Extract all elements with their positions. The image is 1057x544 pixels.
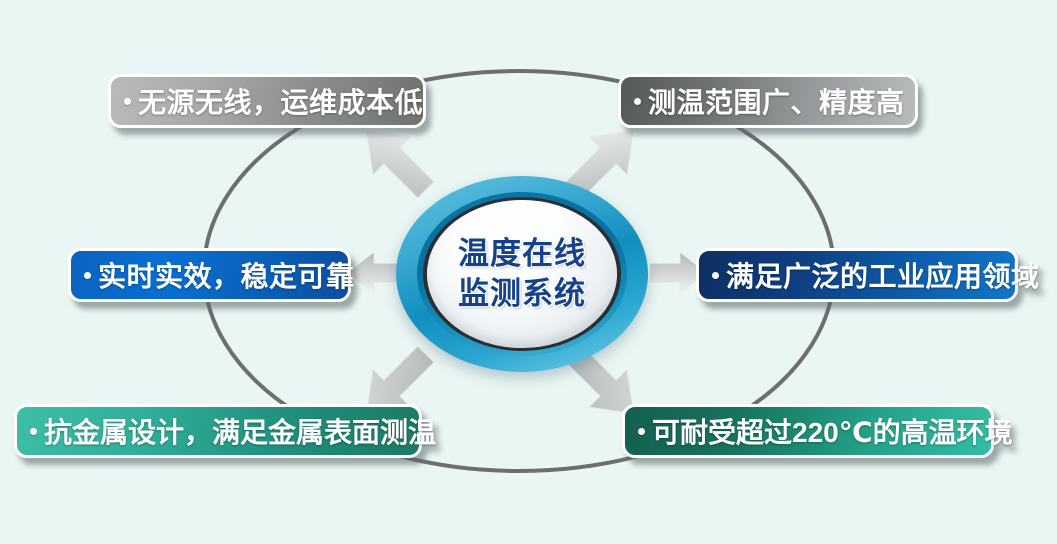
hub-inner-disc: 温度在线 监测系统 — [427, 200, 617, 348]
hub-title-line-2: 监测系统 — [458, 274, 586, 314]
feature-label-bottom-right[interactable]: 可耐受超过220℃的高温环境 — [622, 404, 994, 458]
feature-label-middle-right[interactable]: 满足广泛的工业应用领域 — [696, 248, 1018, 302]
feature-label-text: 满足广泛的工业应用领域 — [726, 255, 1040, 295]
feature-label-text: 无源无线，运维成本低 — [138, 81, 423, 121]
hub-title-line-1: 温度在线 — [458, 234, 586, 274]
infographic-canvas: 温度在线 监测系统 无源无线，运维成本低 测温范围广、精度高 实时实效，稳定可靠… — [0, 0, 1057, 544]
bullet-icon — [30, 428, 37, 435]
feature-label-text: 实时实效，稳定可靠 — [98, 255, 355, 295]
bullet-icon — [124, 98, 131, 105]
bullet-icon — [712, 272, 719, 279]
feature-label-top-right[interactable]: 测温范围广、精度高 — [618, 74, 918, 128]
bullet-icon — [638, 428, 645, 435]
feature-label-top-left[interactable]: 无源无线，运维成本低 — [108, 74, 426, 128]
feature-label-middle-left[interactable]: 实时实效，稳定可靠 — [68, 248, 351, 302]
feature-label-text: 可耐受超过220℃的高温环境 — [652, 411, 1013, 451]
feature-label-text: 测温范围广、精度高 — [648, 81, 905, 121]
bullet-icon — [634, 98, 641, 105]
central-hub: 温度在线 监测系统 — [396, 176, 648, 372]
feature-label-text: 抗金属设计，满足金属表面测温 — [44, 411, 436, 451]
bullet-icon — [84, 272, 91, 279]
feature-label-bottom-left[interactable]: 抗金属设计，满足金属表面测温 — [14, 404, 422, 458]
